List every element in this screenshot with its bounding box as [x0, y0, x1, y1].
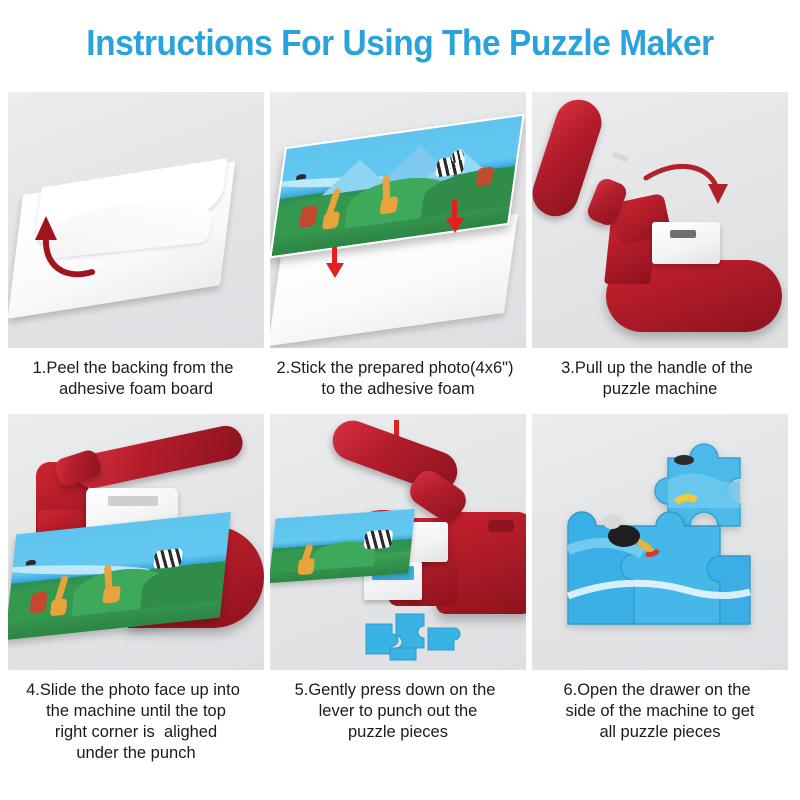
puzzle-pieces-assembled — [554, 492, 766, 660]
caption-line: 5.Gently press down on the — [270, 680, 526, 701]
step-1: 1.Peel the backing from the adhesive foa… — [8, 92, 264, 400]
machine-side-handle — [488, 520, 514, 532]
caption-line: side of the machine to get — [532, 701, 788, 722]
safari-photo-art — [270, 509, 415, 583]
lever-tip-slot — [611, 151, 628, 162]
step-1-image — [8, 92, 264, 348]
step-5: 5.Gently press down on the lever to punc… — [270, 414, 526, 764]
bird-shape — [26, 560, 36, 566]
caption-line: 3.Pull up the handle of the — [532, 358, 788, 379]
step-6: 6.Open the drawer on the side of the mac… — [532, 414, 788, 764]
arrow-stem — [452, 200, 457, 220]
antelope-shape — [29, 592, 47, 614]
step-3-caption: 3.Pull up the handle of the puzzle machi… — [532, 358, 788, 400]
caption-line: 6.Open the drawer on the — [532, 680, 788, 701]
steps-row-top: 1.Peel the backing from the adhesive foa… — [8, 92, 792, 400]
photo-partly-cut — [270, 509, 415, 583]
punch-slot-icon — [108, 496, 158, 506]
caption-line: 2.Stick the prepared photo(4x6") — [270, 358, 526, 379]
caption-line: lever to punch out the — [270, 701, 526, 722]
step-2-image — [270, 92, 526, 348]
zebra-body — [364, 530, 394, 550]
step-5-caption: 5.Gently press down on the lever to punc… — [270, 680, 526, 743]
caption-line: right corner is alighed — [8, 722, 264, 743]
step-4-image — [8, 414, 264, 670]
punch-slot-icon — [670, 230, 696, 238]
step-3-image — [532, 92, 788, 348]
step-6-image — [532, 414, 788, 670]
caption-line: under the punch — [8, 743, 264, 764]
arrow-down-icon — [326, 263, 344, 278]
step-4: 4.Slide the photo face up into the machi… — [8, 414, 264, 764]
caption-line: puzzle pieces — [270, 722, 526, 743]
step-5-image — [270, 414, 526, 670]
caption-line: adhesive foam board — [8, 379, 264, 400]
punch-block — [652, 222, 720, 264]
step-2: 2.Stick the prepared photo(4x6") to the … — [270, 92, 526, 400]
step-6-caption: 6.Open the drawer on the side of the mac… — [532, 680, 788, 743]
steps-grid: 1.Peel the backing from the adhesive foa… — [8, 92, 792, 764]
steps-row-bottom: 4.Slide the photo face up into the machi… — [8, 414, 792, 764]
caption-line: all puzzle pieces — [532, 722, 788, 743]
caption-line: 4.Slide the photo face up into — [8, 680, 264, 701]
page-title: Instructions For Using The Puzzle Maker — [28, 22, 772, 64]
giraffe-body — [297, 558, 315, 575]
curved-arrow-down-icon — [642, 162, 732, 212]
caption-line: puzzle machine — [532, 379, 788, 400]
machine-lever — [72, 423, 245, 492]
arrow-down-icon — [446, 218, 464, 233]
caption-line: 1.Peel the backing from the — [8, 358, 264, 379]
step-1-caption: 1.Peel the backing from the adhesive foa… — [8, 358, 264, 400]
punched-puzzle-pieces — [362, 610, 472, 662]
instruction-infographic: Instructions For Using The Puzzle Maker … — [0, 0, 800, 800]
caption-line: to the adhesive foam — [270, 379, 526, 400]
caption-line: the machine until the top — [8, 701, 264, 722]
step-3: 3.Pull up the handle of the puzzle machi… — [532, 92, 788, 400]
curved-arrow-up-icon — [34, 210, 104, 290]
step-4-caption: 4.Slide the photo face up into the machi… — [8, 680, 264, 764]
step-2-caption: 2.Stick the prepared photo(4x6") to the … — [270, 358, 526, 400]
